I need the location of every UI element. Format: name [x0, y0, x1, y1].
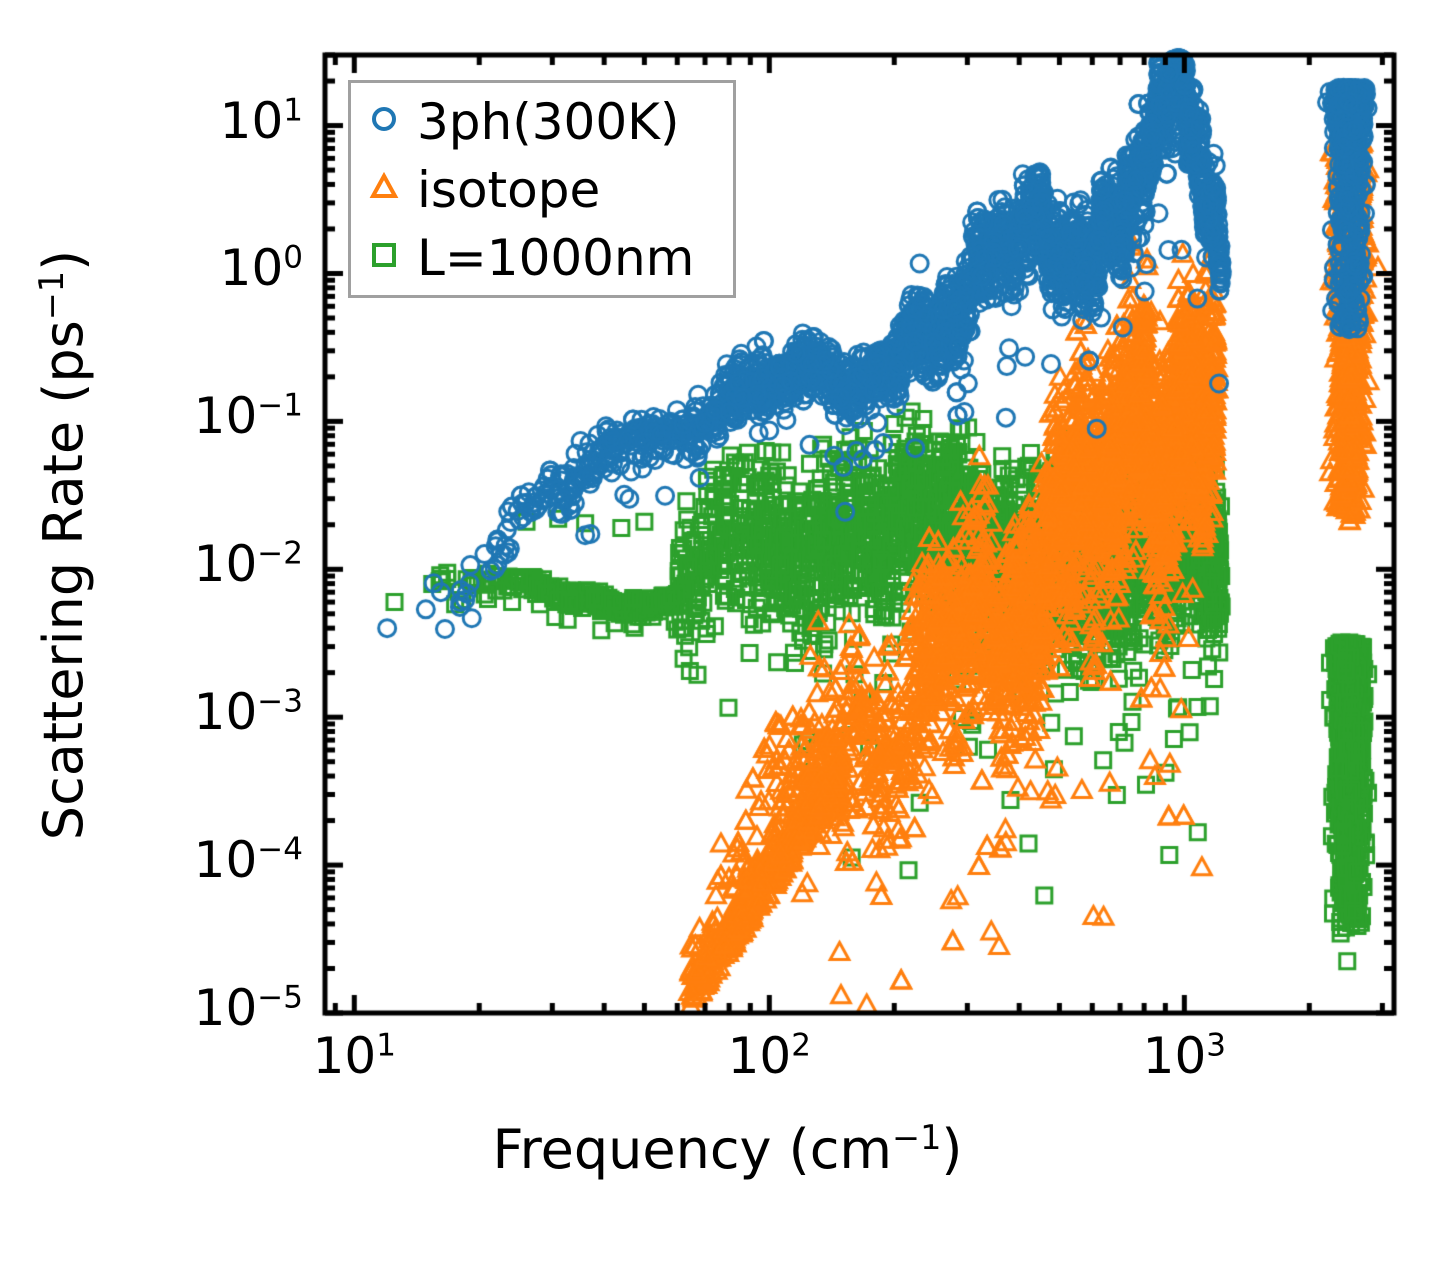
y-axis-label-tail: ): [32, 250, 95, 271]
y-tick-label-6: 10−5: [194, 983, 303, 1033]
x-axis-label-text: Frequency (cm: [493, 1118, 893, 1181]
y-tick-label-2: 10−1: [194, 391, 303, 441]
y-tick-label-3: 10−2: [194, 539, 303, 589]
legend-entry-3ph[interactable]: 3ph(300K): [351, 91, 679, 157]
y-axis-label-text: Scattering Rate (ps: [32, 320, 95, 840]
legend-label-boundary: L=1000nm: [417, 233, 694, 287]
x-axis-label-tail: ): [941, 1118, 962, 1181]
x-tick-label-0: 101: [264, 1031, 444, 1081]
y-axis-label: Scattering Rate (ps−1): [36, 15, 92, 1075]
y-tick-label-4: 10−3: [194, 687, 303, 737]
y-tick-label-0: 101: [220, 96, 303, 146]
circle-marker-icon: [351, 91, 417, 157]
scatter-plot-figure: Scattering Rate (ps−1) Frequency (cm−1) …: [0, 0, 1455, 1265]
legend-label-isotope: isotope: [417, 165, 600, 219]
legend-entry-isotope[interactable]: isotope: [351, 159, 600, 225]
legend: 3ph(300K) isotope L=1000nm: [348, 80, 736, 298]
legend-label-3ph: 3ph(300K): [417, 97, 679, 151]
y-axis-label-exponent: −1: [32, 271, 71, 320]
x-tick-label-2: 103: [1094, 1031, 1274, 1081]
y-tick-label-5: 10−4: [194, 835, 303, 885]
legend-entry-boundary[interactable]: L=1000nm: [351, 227, 694, 293]
y-tick-label-1: 100: [220, 243, 303, 293]
x-axis-label-exponent: −1: [892, 1118, 941, 1157]
x-axis-label: Frequency (cm−1): [0, 1118, 1455, 1181]
triangle-marker-icon: [351, 159, 417, 225]
x-tick-label-1: 102: [679, 1031, 859, 1081]
square-marker-icon: [351, 227, 417, 293]
